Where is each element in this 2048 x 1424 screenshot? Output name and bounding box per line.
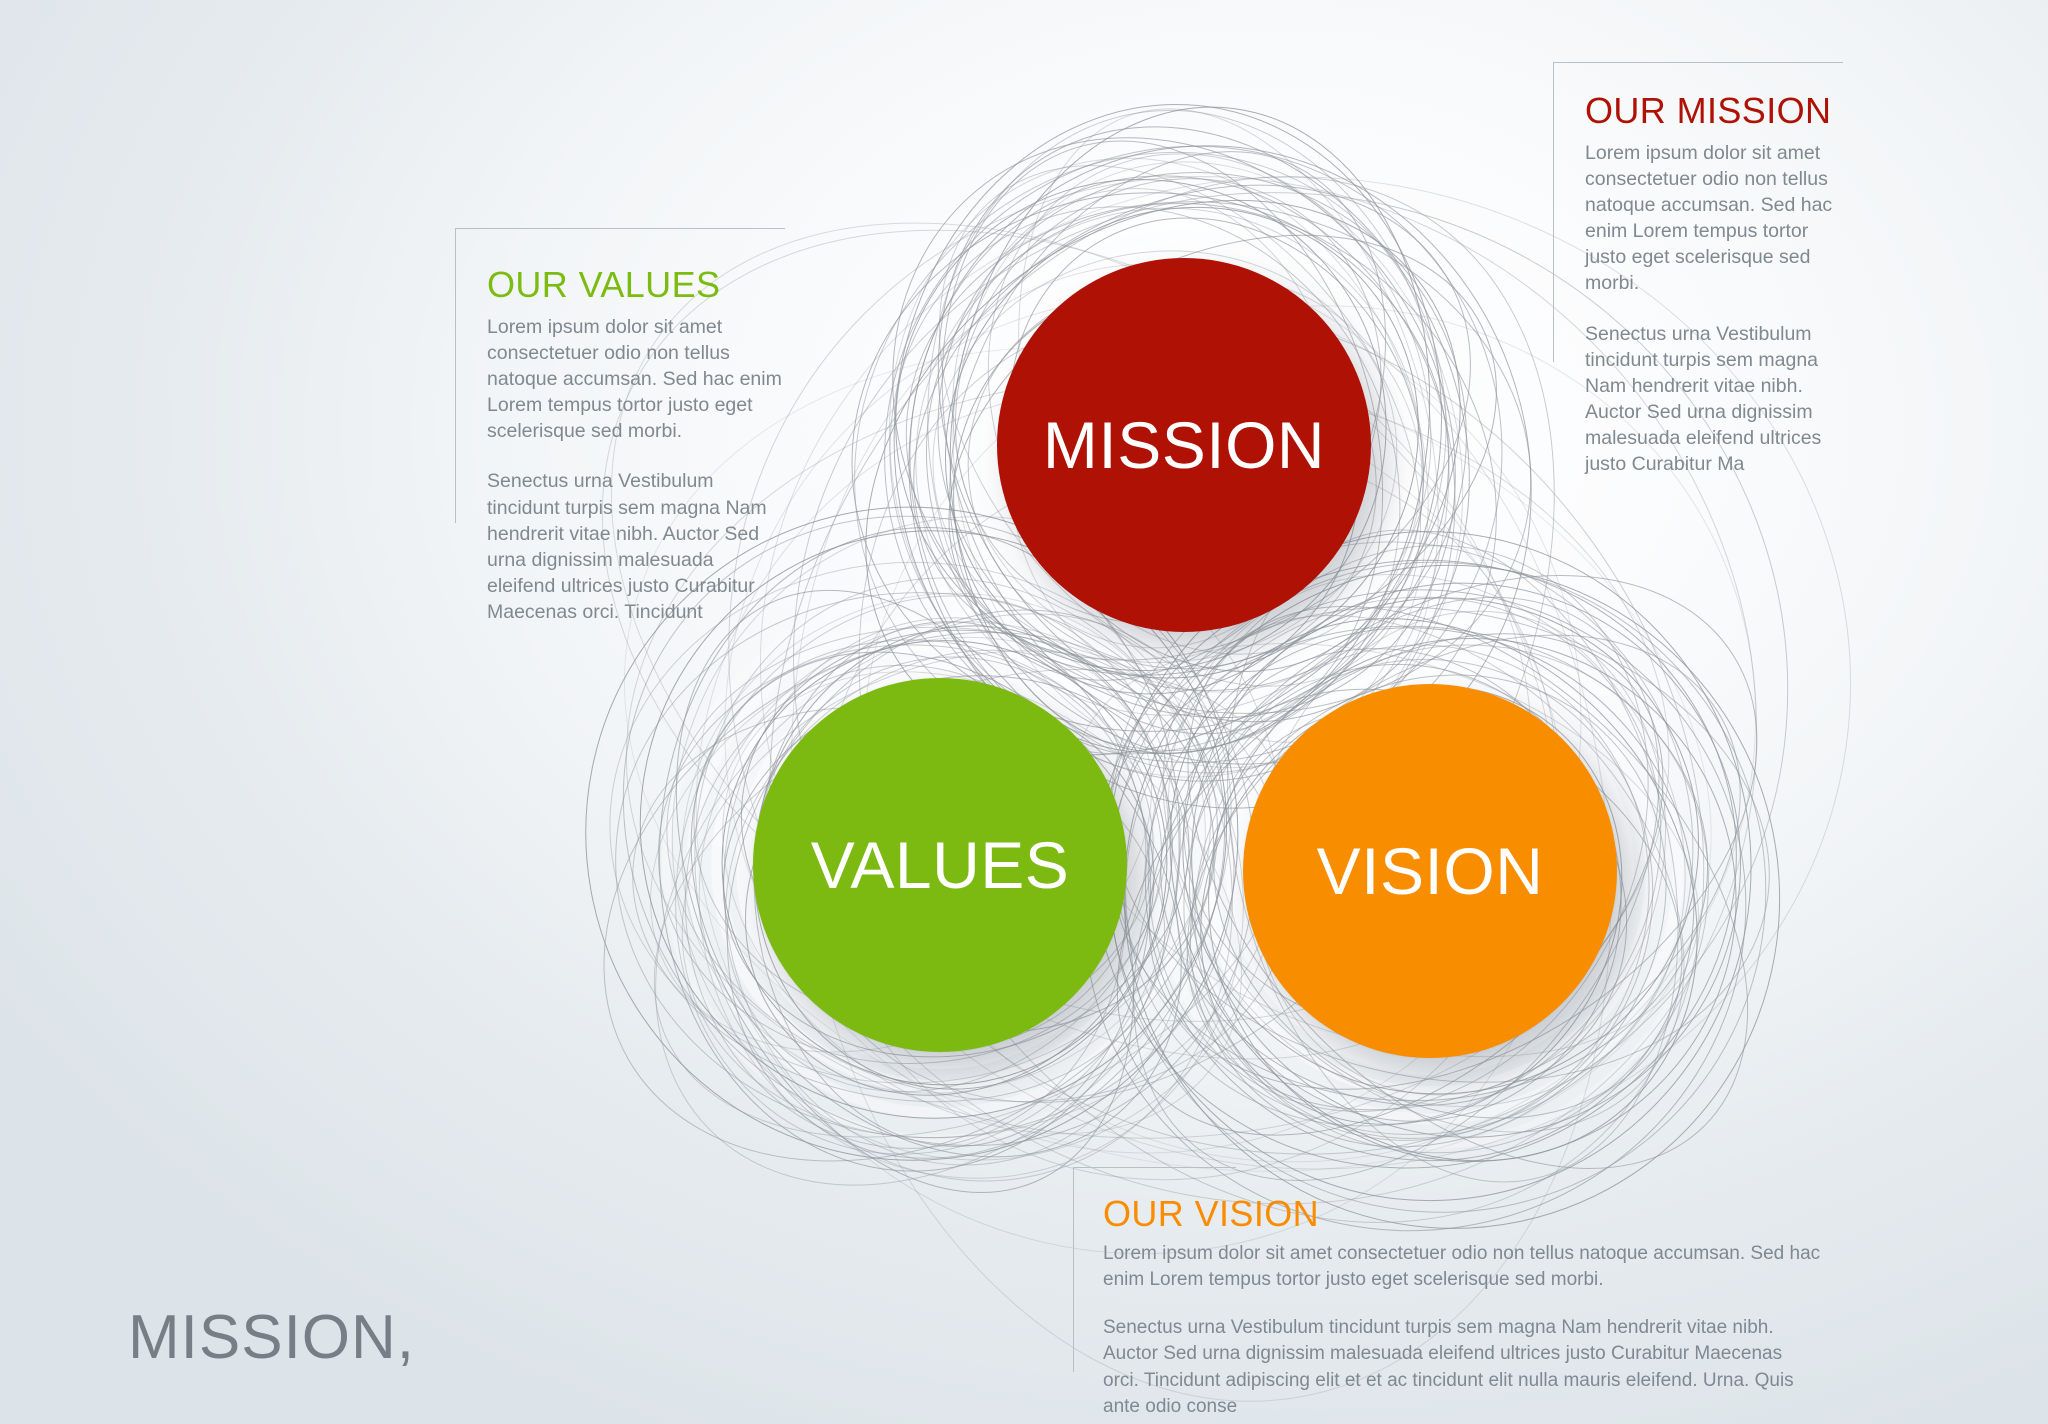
our-values-paragraph-2: Senectus urna Vestibulum tincidunt turpi… [487, 468, 785, 625]
our-mission-panel: OUR MISSION Lorem ipsum dolor sit amet c… [1553, 62, 1853, 477]
our-values-heading: OUR VALUES [487, 266, 785, 304]
mission-circle-label: MISSION [1043, 412, 1325, 478]
mission-circle[interactable]: MISSION [997, 258, 1371, 632]
our-values-panel: OUR VALUES Lorem ipsum dolor sit amet co… [455, 228, 785, 625]
vision-circle-label: VISION [1317, 838, 1544, 904]
our-vision-paragraph-1: Lorem ipsum dolor sit amet consectetuer … [1103, 1241, 1823, 1293]
our-vision-heading: OUR VISION [1103, 1195, 1823, 1233]
our-vision-panel: OUR VISION Lorem ipsum dolor sit amet co… [1073, 1167, 1873, 1420]
our-values-paragraph-1: Lorem ipsum dolor sit amet consectetuer … [487, 314, 785, 445]
page-title-line-1: MISSION, [128, 1302, 669, 1374]
our-vision-paragraph-2: Senectus urna Vestibulum tincidunt turpi… [1103, 1315, 1823, 1420]
infographic-canvas: MISSION VALUES VISION OUR VALUES Lorem i… [0, 0, 2048, 1424]
our-mission-paragraph-2: Senectus urna Vestibulum tincidunt turpi… [1585, 321, 1853, 478]
our-mission-paragraph-1: Lorem ipsum dolor sit amet consectetuer … [1585, 140, 1853, 297]
values-circle-label: VALUES [811, 832, 1070, 898]
values-circle[interactable]: VALUES [753, 678, 1127, 1052]
page-title: MISSION, VISION & VALUES [128, 1158, 669, 1424]
our-mission-heading: OUR MISSION [1585, 92, 1853, 130]
vision-circle[interactable]: VISION [1243, 684, 1617, 1058]
